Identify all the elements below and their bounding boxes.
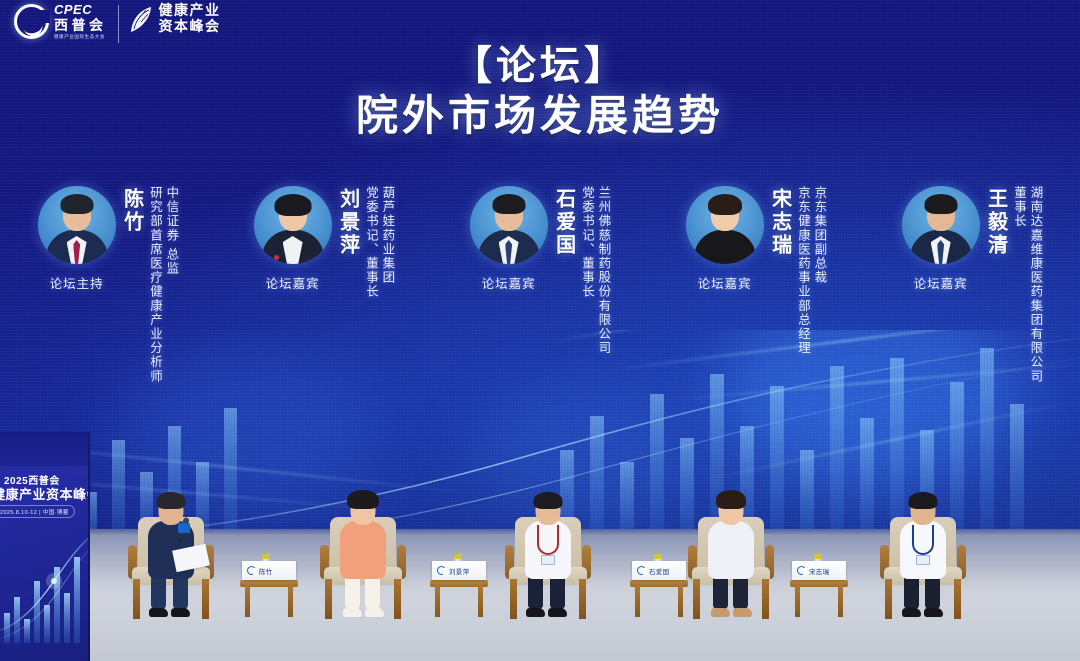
speaker-name-song-zhirui: 宋志瑞 bbox=[769, 188, 791, 257]
leaf-feather-icon bbox=[130, 5, 154, 35]
speaker-title-liu-jingping-2: 葫芦娃药业集团 bbox=[380, 186, 394, 299]
summit-logo-line2: 资本峰会 bbox=[159, 19, 221, 35]
logo-divider bbox=[118, 5, 119, 43]
panelist-seating-row: 陈竹 bbox=[0, 391, 1080, 661]
lanyard bbox=[537, 525, 559, 555]
cpec-mini-logo-icon bbox=[247, 566, 256, 575]
speaker-card-chen-zhu: 论坛主持 陈竹 研究部首席医疗健康产业分析师 中信证券 总监 bbox=[0, 186, 216, 416]
placard-name-text-4: 宋志瑞 bbox=[809, 566, 829, 576]
panelist-person-shi-aiguo bbox=[513, 467, 583, 617]
forum-title-line1: 【论坛】 bbox=[0, 44, 1080, 89]
side-table-2: 刘景萍 bbox=[430, 555, 488, 617]
speaker-role-shi-aiguo: 论坛嘉宾 bbox=[482, 273, 536, 292]
placard-name-text-2: 刘景萍 bbox=[449, 566, 469, 576]
speaker-portrait-chen-zhu bbox=[38, 186, 116, 264]
speaker-title-shi-aiguo-2: 兰州佛慈制药股份有限公司 bbox=[596, 186, 610, 355]
summit-logo-line1: 健康产业 bbox=[159, 3, 221, 19]
cpec-logo-en: CPEC bbox=[54, 3, 107, 16]
cpec-mini-logo-icon bbox=[797, 566, 806, 575]
speaker-title-wang-yiqing-1: 董事长 bbox=[1012, 186, 1026, 383]
speaker-portrait-song-zhirui bbox=[686, 186, 764, 264]
speaker-title-chen-zhu-2: 中信证券 总监 bbox=[164, 186, 178, 383]
speaker-role-liu-jingping: 论坛嘉宾 bbox=[266, 273, 320, 292]
speaker-name-wang-yiqing: 王毅清 bbox=[985, 188, 1007, 257]
name-placard-2: 刘景萍 bbox=[432, 561, 486, 580]
speaker-title-chen-zhu-1: 研究部首席医疗健康产业分析师 bbox=[148, 186, 162, 383]
cpec-logo-cn: 西普会 bbox=[54, 18, 107, 32]
placard-name-text-1: 陈竹 bbox=[259, 566, 273, 576]
placard-name-text-3: 石爱国 bbox=[649, 566, 669, 576]
side-table-4: 宋志瑞 bbox=[790, 555, 848, 617]
side-table-1: 陈竹 bbox=[240, 555, 298, 617]
name-placard-4: 宋志瑞 bbox=[792, 561, 846, 580]
speaker-role-song-zhirui: 论坛嘉宾 bbox=[698, 273, 752, 292]
cpec-mini-logo-icon bbox=[437, 566, 446, 575]
side-table-3: 石爱国 bbox=[630, 555, 688, 617]
panelist-person-song-zhirui bbox=[699, 471, 763, 617]
speaker-name-chen-zhu: 陈竹 bbox=[121, 188, 143, 234]
stage-led-screen: CPEC 西普会 健康产业国际生态大会 健康产业 资本峰会 【论坛】 院外市场发… bbox=[0, 0, 1080, 661]
panelist-person-chen-zhu bbox=[136, 469, 206, 617]
name-badge bbox=[916, 555, 930, 565]
speaker-role-wang-yiqing: 论坛嘉宾 bbox=[914, 273, 968, 292]
speaker-card-shi-aiguo: 论坛嘉宾 石爱国 党委书记、董事长 兰州佛慈制药股份有限公司 bbox=[432, 186, 648, 416]
speaker-role-chen-zhu: 论坛主持 bbox=[50, 273, 104, 292]
speaker-portrait-liu-jingping bbox=[254, 186, 332, 264]
cpec-logo: CPEC 西普会 健康产业国际生态大会 bbox=[14, 3, 107, 40]
microphone-flag bbox=[178, 523, 190, 533]
forum-title-block: 【论坛】 院外市场发展趋势 bbox=[0, 44, 1080, 141]
podium-banner: 2025西普会 健康产业资本峰会 2025.8.10-12 | 中国·博鳌 bbox=[0, 432, 90, 661]
cpec-logo-subtitle: 健康产业国际生态大会 bbox=[54, 35, 107, 40]
lanyard bbox=[912, 525, 934, 555]
speaker-card-song-zhirui: 论坛嘉宾 宋志瑞 京东健康医药事业部总经理 京东集团副总裁 bbox=[648, 186, 864, 416]
speaker-title-shi-aiguo-1: 党委书记、董事长 bbox=[580, 186, 594, 355]
speaker-card-liu-jingping: 论坛嘉宾 刘景萍 党委书记、董事长 葫芦娃药业集团 bbox=[216, 186, 432, 416]
name-placard-3: 石爱国 bbox=[632, 561, 686, 580]
name-badge bbox=[541, 555, 555, 565]
podium-banner-date: 2025.8.10-12 | 中国·博鳌 bbox=[0, 505, 75, 518]
speaker-title-liu-jingping-1: 党委书记、董事长 bbox=[364, 186, 378, 299]
speaker-cards-row: 论坛主持 陈竹 研究部首席医疗健康产业分析师 中信证券 总监 bbox=[0, 186, 1080, 416]
cpec-mini-logo-icon bbox=[637, 566, 646, 575]
speaker-title-song-zhirui-1: 京东健康医药事业部总经理 bbox=[796, 186, 810, 355]
speaker-title-wang-yiqing-2: 湖南达嘉维康医药集团有限公司 bbox=[1028, 186, 1042, 383]
podium-bar-chart-graphic bbox=[0, 527, 90, 647]
cpec-circle-logo-icon bbox=[14, 4, 49, 39]
speaker-card-wang-yiqing: 论坛嘉宾 王毅清 董事长 湖南达嘉维康医药集团有限公司 bbox=[864, 186, 1080, 416]
panelist-person-wang-yiqing bbox=[889, 469, 957, 617]
speaker-portrait-wang-yiqing bbox=[902, 186, 980, 264]
speaker-name-liu-jingping: 刘景萍 bbox=[337, 188, 359, 257]
speaker-name-shi-aiguo: 石爱国 bbox=[553, 188, 575, 257]
summit-logo: 健康产业 资本峰会 bbox=[130, 3, 221, 35]
podium-banner-title2: 健康产业资本峰会 bbox=[0, 484, 90, 503]
event-logo-bar: CPEC 西普会 健康产业国际生态大会 健康产业 资本峰会 bbox=[14, 3, 221, 43]
speaker-title-song-zhirui-2: 京东集团副总裁 bbox=[812, 186, 826, 355]
speaker-portrait-shi-aiguo bbox=[470, 186, 548, 264]
panelist-person-liu-jingping bbox=[330, 469, 396, 617]
forum-title-line2: 院外市场发展趋势 bbox=[0, 91, 1080, 141]
name-placard-1: 陈竹 bbox=[242, 561, 296, 580]
